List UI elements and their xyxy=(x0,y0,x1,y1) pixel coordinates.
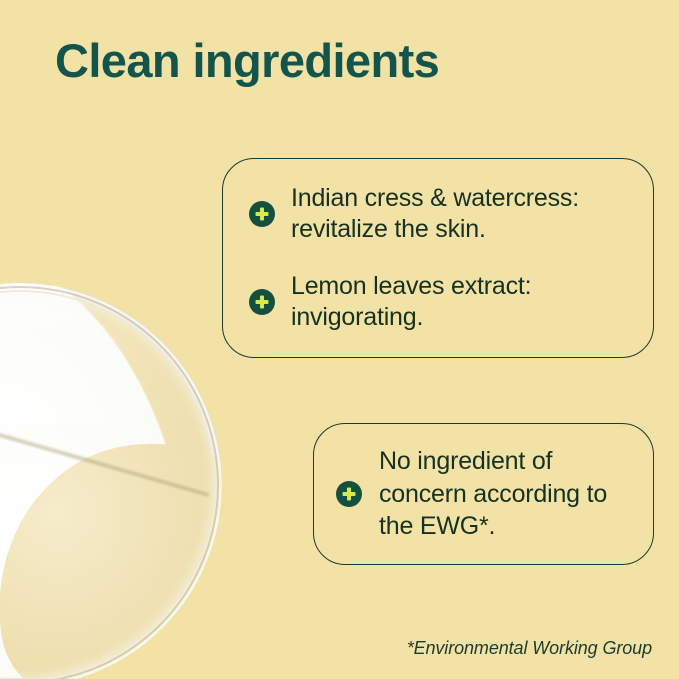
ingredients-card: Indian cress & watercress: revitalize th… xyxy=(222,158,654,358)
list-item: Indian cress & watercress: revitalize th… xyxy=(249,183,629,246)
plus-icon xyxy=(336,481,362,507)
footnote: *Environmental Working Group xyxy=(0,638,652,659)
plus-icon xyxy=(249,289,275,315)
ewg-card: No ingredient of concern according to th… xyxy=(313,423,654,565)
plus-icon xyxy=(249,201,275,227)
list-item-label: No ingredient of concern according to th… xyxy=(379,445,631,543)
list-item: No ingredient of concern according to th… xyxy=(336,445,631,543)
list-item: Lemon leaves extract: invigorating. xyxy=(249,271,629,334)
list-item-label: Lemon leaves extract: invigorating. xyxy=(291,271,629,334)
list-item-label: Indian cress & watercress: revitalize th… xyxy=(291,183,629,246)
page-title: Clean ingredients xyxy=(55,33,439,88)
product-image xyxy=(0,283,222,679)
